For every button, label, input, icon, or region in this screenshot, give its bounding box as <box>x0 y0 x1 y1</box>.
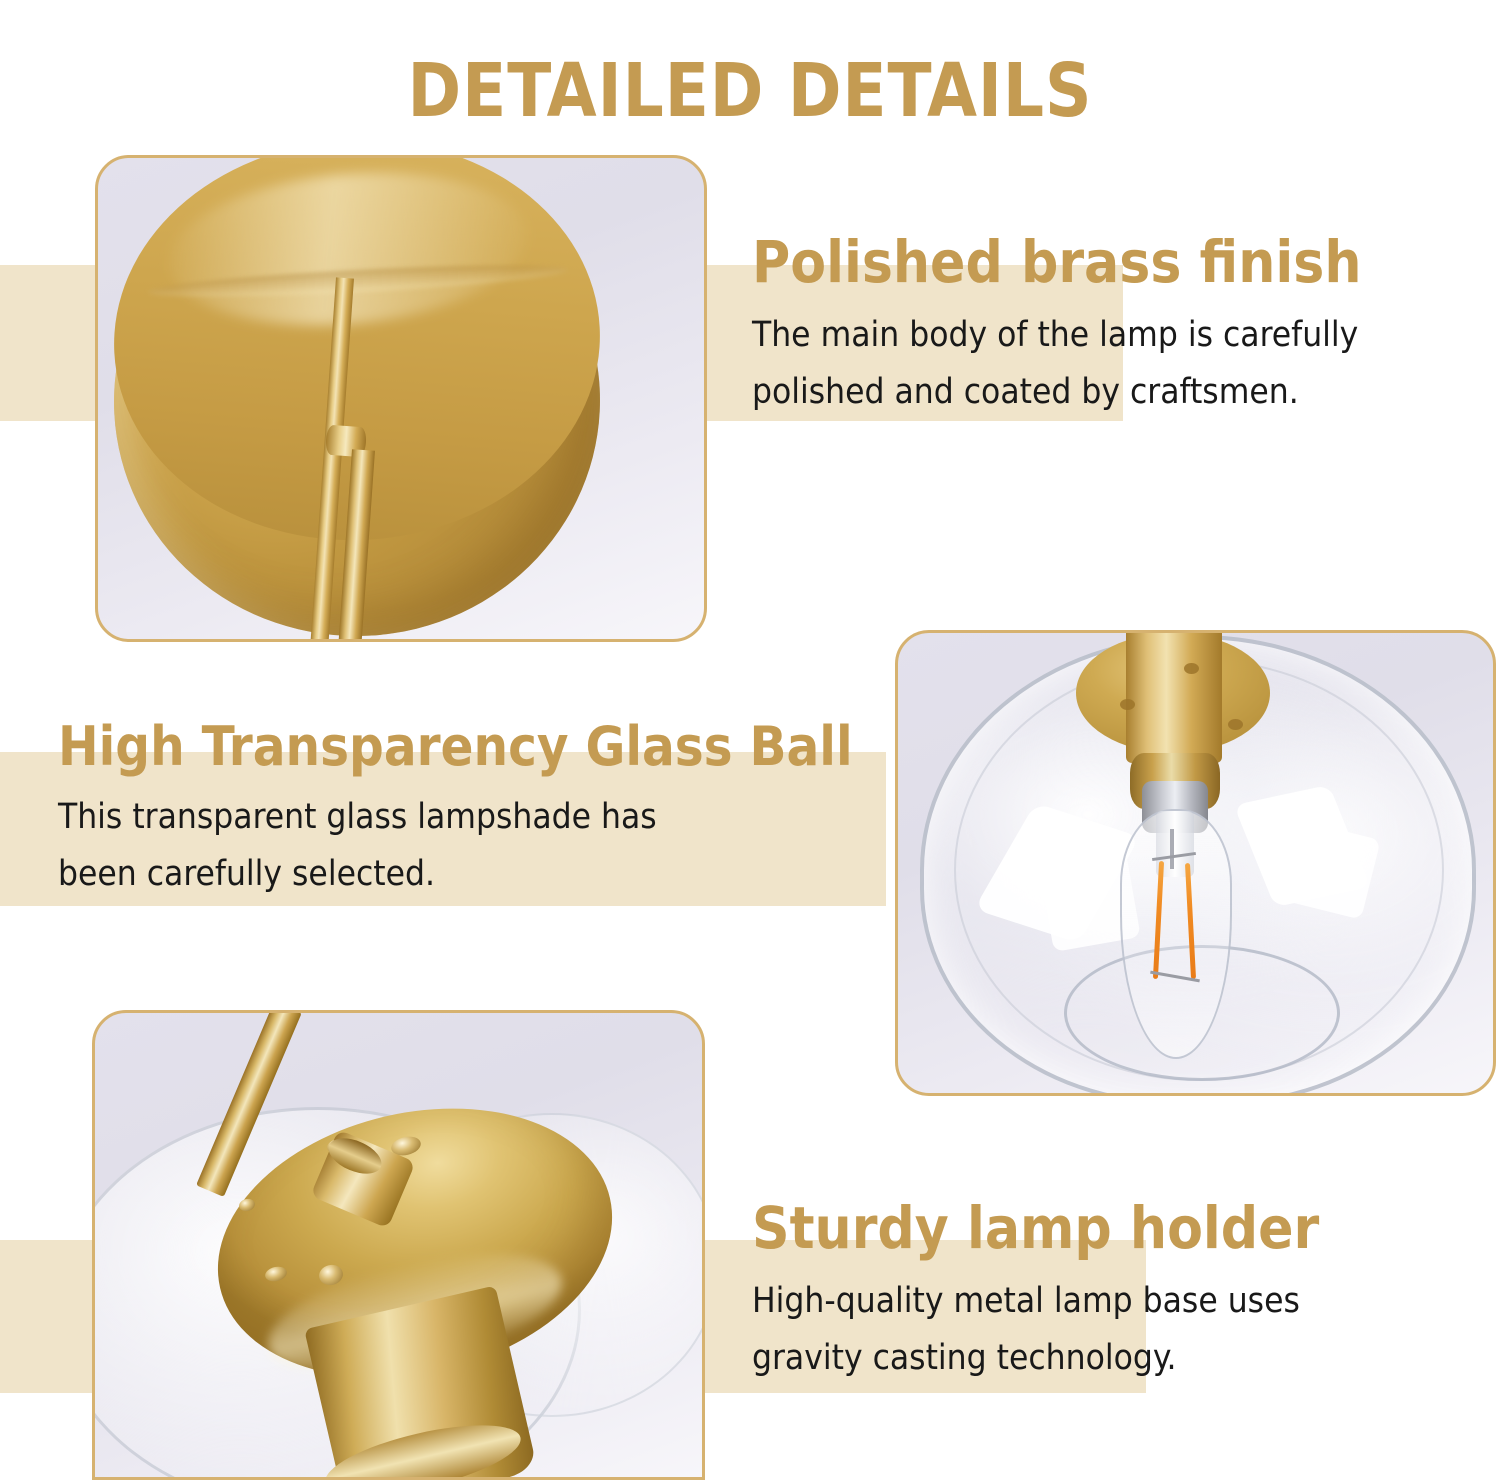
feature-headline-polished-brass-finish: Polished brass finish <box>752 232 1492 293</box>
bulb-filament-stem <box>1170 829 1174 869</box>
feature-block-polished-brass-finish: Polished brass finish The main body of t… <box>752 232 1492 421</box>
feature-headline-sturdy-lamp-holder: Sturdy lamp holder <box>752 1198 1492 1259</box>
feature-body-line-2-sturdy-lamp-holder: gravity casting technology. <box>752 1330 1492 1387</box>
feature-body-line-2-high-transparency-glass-ball: been carefully selected. <box>58 846 888 903</box>
glass-globe-illustration <box>898 633 1493 1093</box>
feature-block-high-transparency-glass-ball: High Transparency Glass Ball This transp… <box>58 718 888 903</box>
feature-block-sturdy-lamp-holder: Sturdy lamp holder High-quality metal la… <box>752 1198 1492 1387</box>
feature-headline-high-transparency-glass-ball: High Transparency Glass Ball <box>58 718 888 775</box>
photo-card-high-transparency-glass-ball <box>895 630 1496 1096</box>
feature-body-line-1-polished-brass-finish: The main body of the lamp is carefully <box>752 307 1492 364</box>
socket-screw-icon <box>1120 699 1135 710</box>
feature-body-line-2-polished-brass-finish: polished and coated by craftsmen. <box>752 364 1492 421</box>
photo-card-sturdy-lamp-holder <box>92 1010 705 1480</box>
brass-socket-body <box>1126 633 1222 763</box>
brass-canopy-illustration <box>98 158 704 639</box>
socket-screw-icon <box>1228 719 1243 730</box>
feature-body-line-1-sturdy-lamp-holder: High-quality metal lamp base uses <box>752 1273 1492 1330</box>
page-title: DETAILED DETAILS <box>23 48 1478 134</box>
feature-body-line-1-high-transparency-glass-ball: This transparent glass lampshade has <box>58 789 888 846</box>
socket-screw-icon <box>1184 663 1199 674</box>
lamp-holder-illustration <box>95 1013 702 1477</box>
photo-card-polished-brass-finish <box>95 155 707 642</box>
